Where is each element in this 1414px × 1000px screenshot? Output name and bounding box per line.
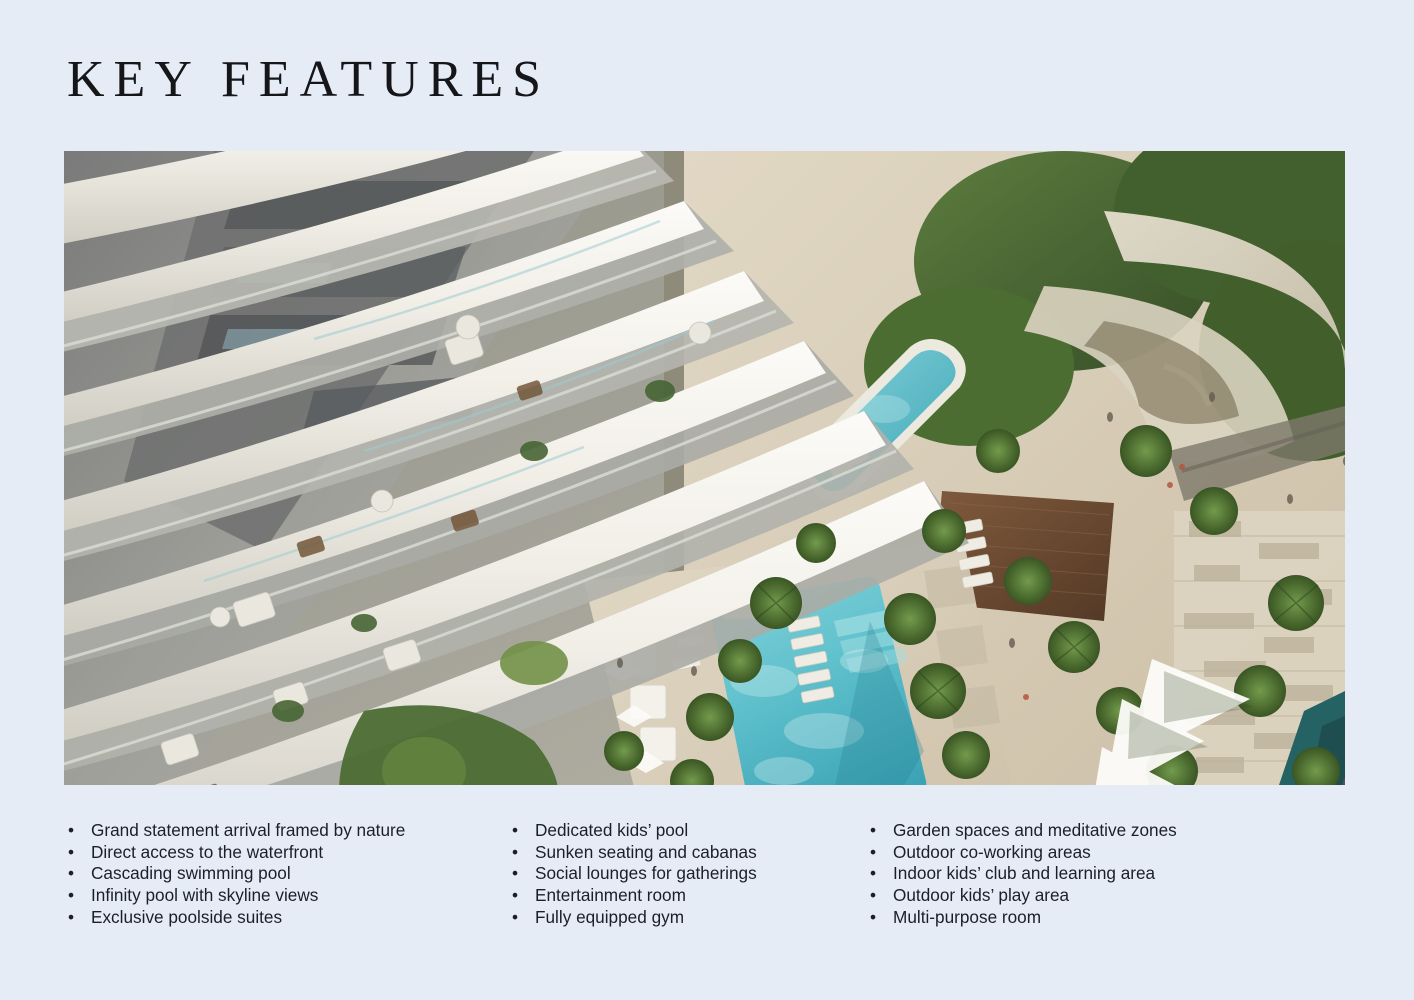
feature-label: Infinity pool with skyline views <box>91 885 318 905</box>
page-title: KEY FEATURES <box>67 54 550 106</box>
feature-label: Outdoor co-working areas <box>893 842 1091 862</box>
feature-item: • Sunken seating and cabanas <box>508 842 848 864</box>
feature-item: • Indoor kids’ club and learning area <box>866 863 1266 885</box>
bullet-icon: • <box>512 820 518 842</box>
feature-label: Indoor kids’ club and learning area <box>893 863 1155 883</box>
features-list: • Grand statement arrival framed by natu… <box>0 820 1414 970</box>
feature-label: Entertainment room <box>535 885 686 905</box>
feature-item: • Grand statement arrival framed by natu… <box>64 820 494 842</box>
feature-label: Outdoor kids’ play area <box>893 885 1069 905</box>
feature-item: • Infinity pool with skyline views <box>64 885 494 907</box>
feature-item: • Outdoor co-working areas <box>866 842 1266 864</box>
feature-label: Direct access to the waterfront <box>91 842 323 862</box>
feature-column-1: • Grand statement arrival framed by natu… <box>64 820 494 929</box>
bullet-icon: • <box>68 863 74 885</box>
bullet-icon: • <box>870 863 876 885</box>
feature-label: Dedicated kids’ pool <box>535 820 688 840</box>
feature-item: • Social lounges for gatherings <box>508 863 848 885</box>
aerial-render-illustration <box>64 151 1345 785</box>
feature-item: • Exclusive poolside suites <box>64 907 494 929</box>
feature-item: • Direct access to the waterfront <box>64 842 494 864</box>
feature-item: • Outdoor kids’ play area <box>866 885 1266 907</box>
feature-item: • Fully equipped gym <box>508 907 848 929</box>
bullet-icon: • <box>512 885 518 907</box>
feature-label: Exclusive poolside suites <box>91 907 282 927</box>
feature-label: Sunken seating and cabanas <box>535 842 757 862</box>
feature-label: Cascading swimming pool <box>91 863 291 883</box>
feature-label: Grand statement arrival framed by nature <box>91 820 405 840</box>
feature-item: • Dedicated kids’ pool <box>508 820 848 842</box>
feature-label: Multi-purpose room <box>893 907 1041 927</box>
feature-item: • Entertainment room <box>508 885 848 907</box>
hero-image <box>64 151 1345 785</box>
bullet-icon: • <box>68 907 74 929</box>
feature-label: Fully equipped gym <box>535 907 684 927</box>
feature-item: • Garden spaces and meditative zones <box>866 820 1266 842</box>
feature-column-2: • Dedicated kids’ pool • Sunken seating … <box>508 820 848 929</box>
feature-label: Garden spaces and meditative zones <box>893 820 1177 840</box>
feature-label: Social lounges for gatherings <box>535 863 757 883</box>
feature-item: • Cascading swimming pool <box>64 863 494 885</box>
bullet-icon: • <box>870 820 876 842</box>
bullet-icon: • <box>870 885 876 907</box>
bullet-icon: • <box>870 842 876 864</box>
bullet-icon: • <box>68 885 74 907</box>
feature-item: • Multi-purpose room <box>866 907 1266 929</box>
feature-column-3: • Garden spaces and meditative zones • O… <box>866 820 1266 929</box>
bullet-icon: • <box>870 907 876 929</box>
bullet-icon: • <box>68 820 74 842</box>
bullet-icon: • <box>512 907 518 929</box>
slide-root: KEY FEATURES <box>0 0 1414 1000</box>
bullet-icon: • <box>68 842 74 864</box>
bullet-icon: • <box>512 863 518 885</box>
bullet-icon: • <box>512 842 518 864</box>
